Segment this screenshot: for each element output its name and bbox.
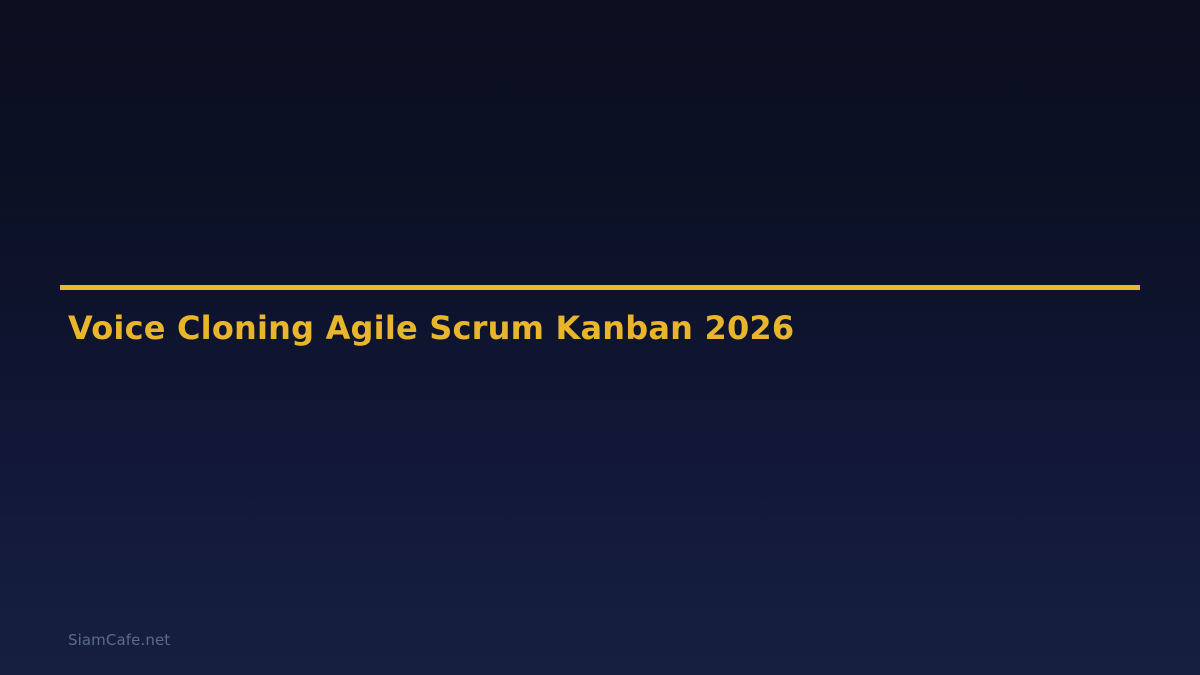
presentation-slide: Voice Cloning Agile Scrum Kanban 2026 Si… xyxy=(0,0,1200,675)
title-block: Voice Cloning Agile Scrum Kanban 2026 xyxy=(60,285,1140,290)
page-title: Voice Cloning Agile Scrum Kanban 2026 xyxy=(68,308,794,348)
footer-brand-label: SiamCafe.net xyxy=(68,631,170,649)
slide-footer: SiamCafe.net xyxy=(68,630,170,650)
accent-rule xyxy=(60,285,1140,290)
